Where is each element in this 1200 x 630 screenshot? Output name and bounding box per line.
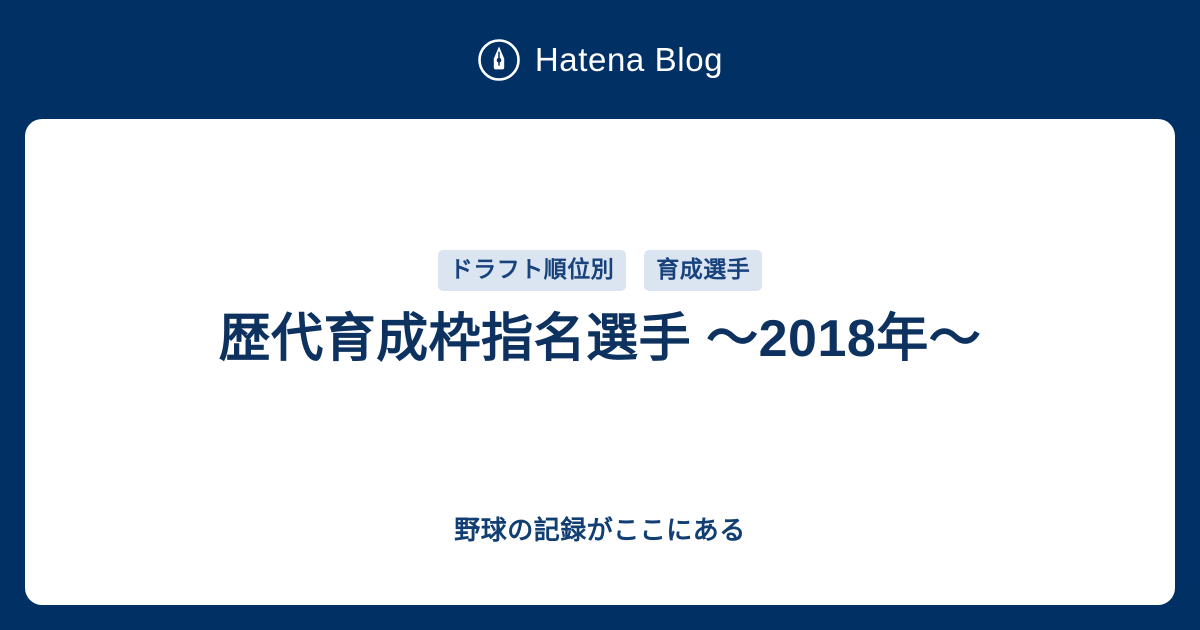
tag-item[interactable]: 育成選手 <box>644 250 762 291</box>
tag-list: ドラフト順位別 育成選手 <box>438 250 763 291</box>
hatena-pen-nib-circle-icon <box>477 38 521 82</box>
entry-card-inner: ドラフト順位別 育成選手 歴代育成枠指名選手 〜2018年〜 野球の記録がここに… <box>25 119 1175 546</box>
entry-title: 歴代育成枠指名選手 〜2018年〜 <box>219 307 982 372</box>
og-image-root: Hatena Blog ドラフト順位別 育成選手 歴代育成枠指名選手 〜2018… <box>0 0 1200 630</box>
blog-name: 野球の記録がここにある <box>454 515 746 546</box>
entry-card: ドラフト順位別 育成選手 歴代育成枠指名選手 〜2018年〜 野球の記録がここに… <box>25 119 1175 605</box>
brand-name: Hatena Blog <box>535 43 723 76</box>
tag-item[interactable]: ドラフト順位別 <box>438 250 627 291</box>
hatena-brand-header: Hatena Blog <box>0 0 1200 119</box>
